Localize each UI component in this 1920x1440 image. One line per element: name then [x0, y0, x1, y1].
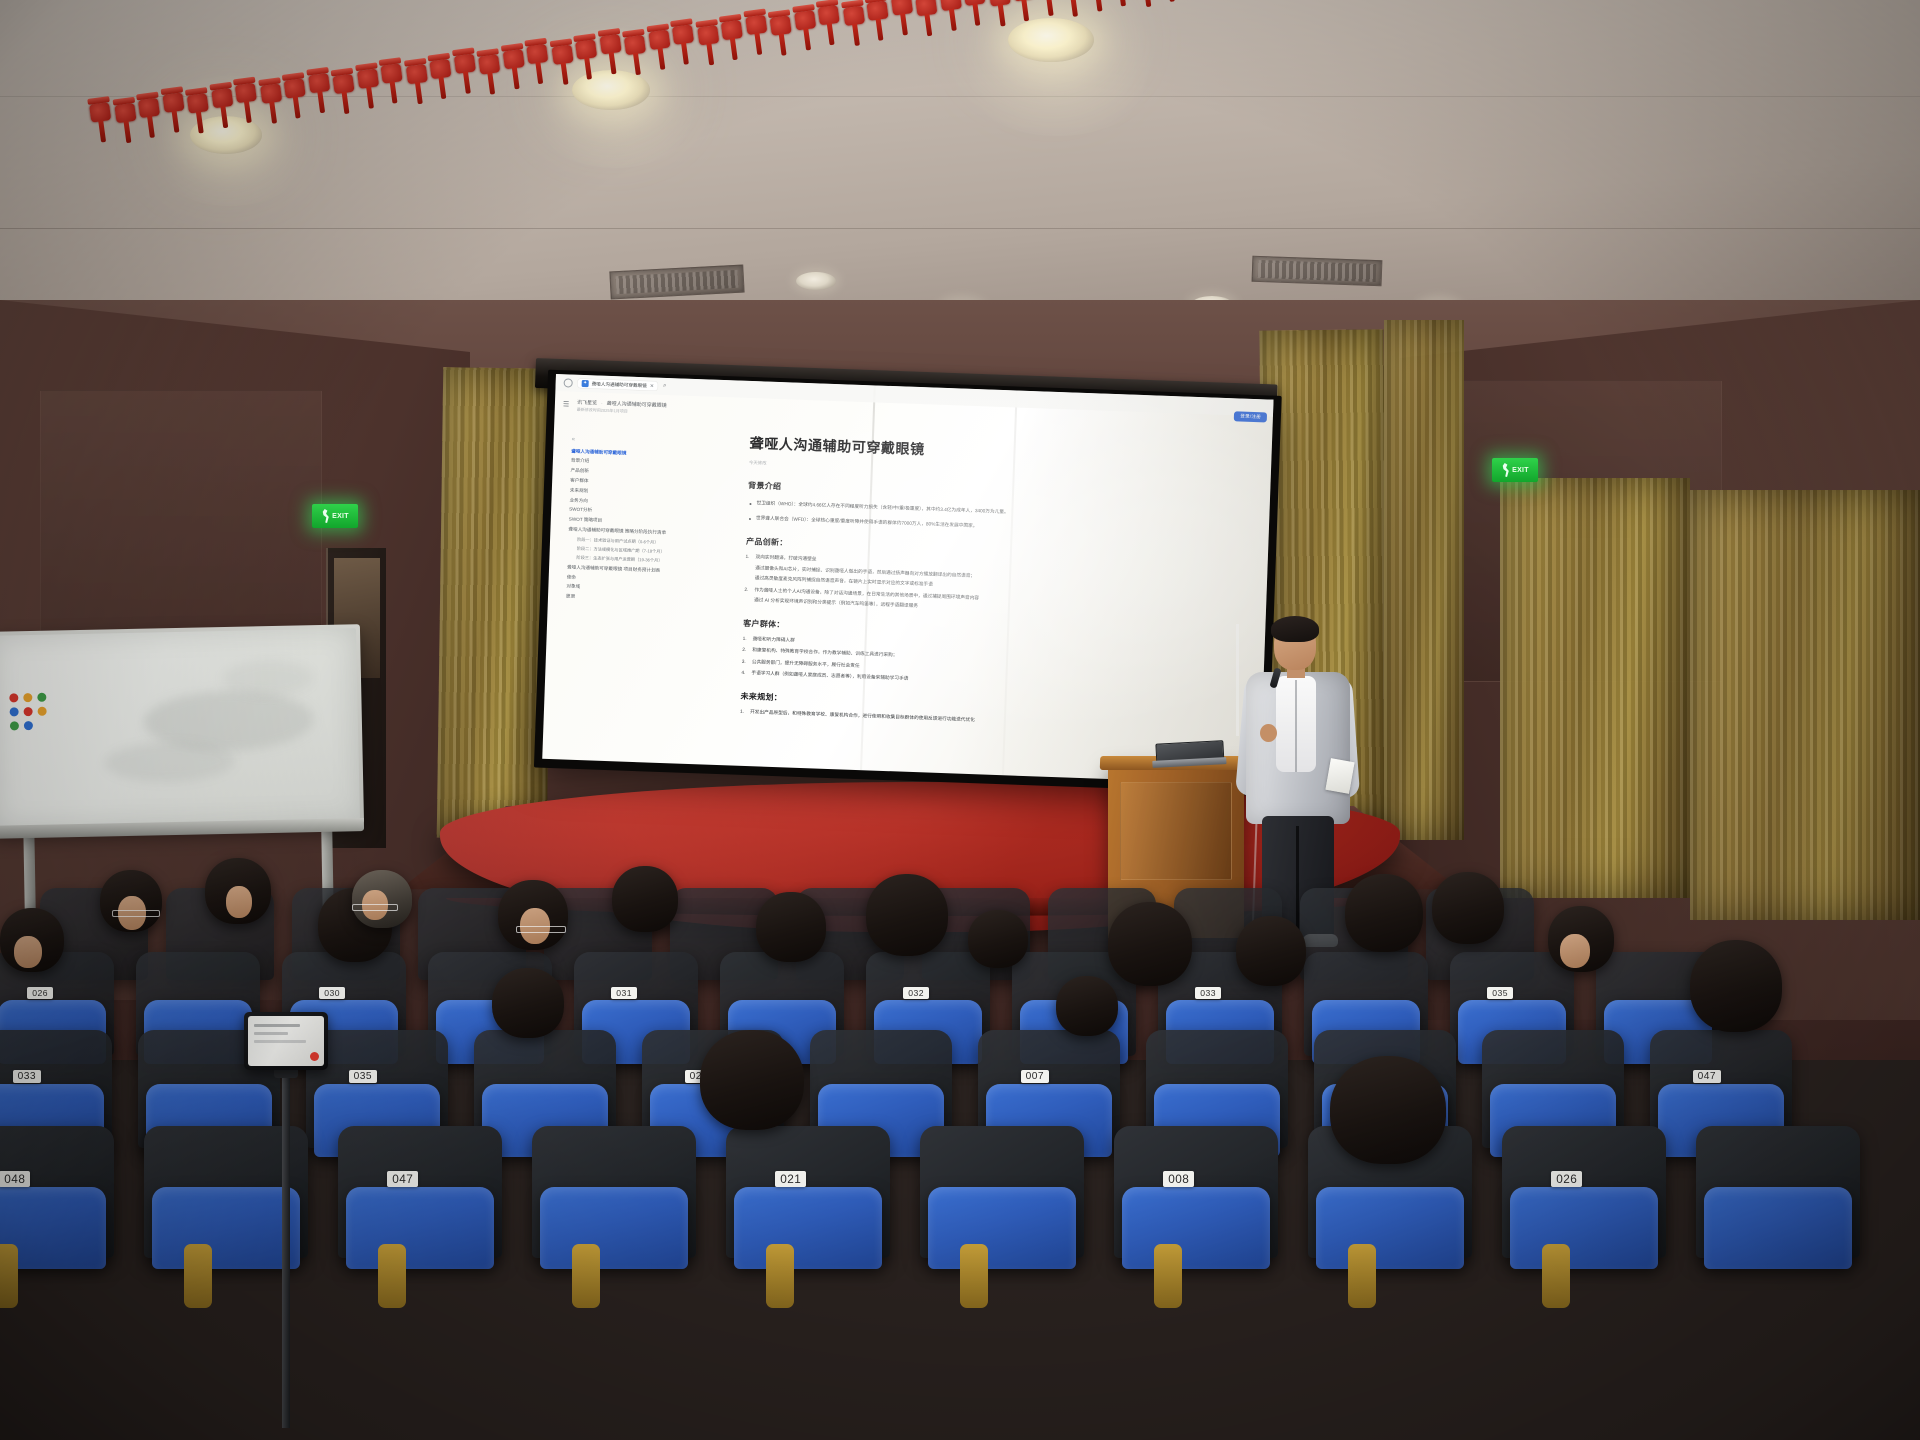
laptop[interactable] [1151, 740, 1226, 770]
seat-number-badge: 033 [1195, 987, 1221, 999]
running-man-icon [1501, 463, 1510, 477]
audience-head [700, 1030, 804, 1130]
seat-armrest [1348, 1244, 1376, 1308]
ceiling-vent [1252, 256, 1383, 287]
eyeglasses-icon [516, 926, 566, 933]
auditorium-photo: EXIT EXIT [0, 0, 1920, 1440]
seat-armrest [0, 1244, 18, 1308]
audience-head [492, 968, 564, 1038]
stage-curtain-far-right [1384, 320, 1464, 840]
seat-armrest [378, 1244, 406, 1308]
audience-face [14, 936, 42, 968]
phone-tripod [238, 1012, 358, 1432]
collapse-icon[interactable]: « [572, 437, 720, 448]
seat-cushion[interactable] [1704, 1187, 1852, 1269]
seat-cushion[interactable] [734, 1187, 882, 1269]
seat-number-badge: 035 [1487, 987, 1513, 999]
ceiling-downlight [1008, 18, 1094, 62]
audience-head [1690, 940, 1782, 1032]
breadcrumb-root[interactable]: 讯飞星览 [577, 399, 597, 407]
audience-head [968, 910, 1028, 968]
list-para: 通过 AI 分析实现环境声识别和分类提示（例如汽车鸣笛等），远程手语翻译服务 [754, 596, 1252, 622]
breadcrumb-subtitle: 最新修改时间2025年1月项目 [577, 407, 628, 415]
audience-head [1056, 976, 1118, 1036]
audience-head [866, 874, 948, 956]
seat-number-badge: 008 [1163, 1171, 1194, 1187]
seat-number-badge: 032 [903, 987, 929, 999]
running-man-icon [321, 509, 330, 523]
exit-sign-label: EXIT [332, 513, 349, 520]
seat-number-badge: 026 [1551, 1171, 1582, 1187]
seat-armrest [184, 1244, 212, 1308]
tab-favicon: ✦ [582, 380, 589, 387]
search-icon[interactable]: ⌕ [663, 383, 667, 390]
stage-curtain-left [437, 367, 554, 838]
audience-face [1560, 934, 1590, 968]
recording-phone[interactable] [244, 1012, 328, 1070]
audience-head [612, 866, 678, 932]
seat-armrest [960, 1244, 988, 1308]
tab-title: 聋哑人沟通辅助可穿戴眼镜 [592, 381, 647, 389]
ceiling-seam [0, 228, 1920, 229]
seat-number-badge: 047 [1693, 1070, 1722, 1083]
seat-armrest [766, 1244, 794, 1308]
whiteboard [0, 624, 364, 832]
audience-head [1330, 1056, 1446, 1164]
exit-sign-label: EXIT [1512, 467, 1529, 474]
seat-cushion[interactable] [928, 1187, 1076, 1269]
sidebar-toggle-icon[interactable]: ☰ [563, 400, 570, 408]
ceiling-downlight [190, 116, 262, 154]
seat-number-badge: 031 [611, 987, 637, 999]
exit-sign-left: EXIT [312, 504, 358, 528]
document-pane: 聋哑人沟通辅助可穿戴眼镜 今天修改 背景介绍世卫组织（WHO）：全球约4.66亿… [738, 433, 1257, 780]
seat-cushion[interactable] [346, 1187, 494, 1269]
login-button[interactable]: 登录/注册 [1234, 411, 1267, 422]
seat-armrest [1542, 1244, 1570, 1308]
seat-number-badge: 033 [13, 1070, 42, 1083]
ceiling-downlight [572, 70, 650, 110]
audience-head [1236, 916, 1306, 986]
seat-cushion[interactable] [1510, 1187, 1658, 1269]
audience-head [1432, 872, 1504, 944]
side-curtain-far-right [1690, 490, 1920, 920]
audience-head [1108, 902, 1192, 986]
audience-head [1345, 874, 1423, 952]
ceiling-downlight [796, 272, 836, 290]
eyeglasses-icon [112, 910, 160, 917]
reload-icon[interactable] [564, 378, 573, 387]
seat-armrest [1154, 1244, 1182, 1308]
seat-number-badge: 048 [0, 1171, 30, 1187]
section-list-1: 双向实时翻译，打破沟通壁垒通过摄像头和AI芯片，实时捕捉、识别聋哑人做出的手语，… [744, 553, 1253, 622]
projection-screen: ✦ 聋哑人沟通辅助可穿戴眼镜 ✕ ⌕ 登录/注册 ☰ 讯飞星览 · 聋哑人沟通辅… [542, 374, 1273, 784]
close-icon[interactable]: ✕ [650, 383, 654, 389]
audience-head [756, 892, 826, 962]
audience-face [226, 886, 252, 918]
projected-browser-app: ✦ 聋哑人沟通辅助可穿戴眼镜 ✕ ⌕ 登录/注册 ☰ 讯飞星览 · 聋哑人沟通辅… [542, 374, 1273, 784]
seat-number-badge: 047 [387, 1171, 418, 1187]
browser-tab[interactable]: ✦ 聋哑人沟通辅助可穿戴眼镜 ✕ [578, 379, 659, 391]
seat-number-badge: 026 [27, 987, 53, 999]
side-curtain-right [1500, 478, 1690, 898]
seat-number-badge: 030 [319, 987, 345, 999]
seat-armrest [572, 1244, 600, 1308]
exit-sign-right: EXIT [1492, 458, 1538, 482]
ceiling-seam [0, 96, 1920, 97]
seat-cushion[interactable] [1122, 1187, 1270, 1269]
seat-number-badge: 021 [775, 1171, 806, 1187]
seat-cushion[interactable] [1316, 1187, 1464, 1269]
eyeglasses-icon [352, 904, 398, 911]
seat-number-badge: 007 [1021, 1070, 1050, 1083]
seat-cushion[interactable] [540, 1187, 688, 1269]
doc-sidebar: « 聋哑人沟通辅助可穿戴眼镜背景介绍产品创新客户群体未来规划业务方向SWOT分析… [566, 437, 720, 608]
record-indicator [310, 1052, 319, 1061]
breadcrumb-separator: · [601, 400, 603, 406]
